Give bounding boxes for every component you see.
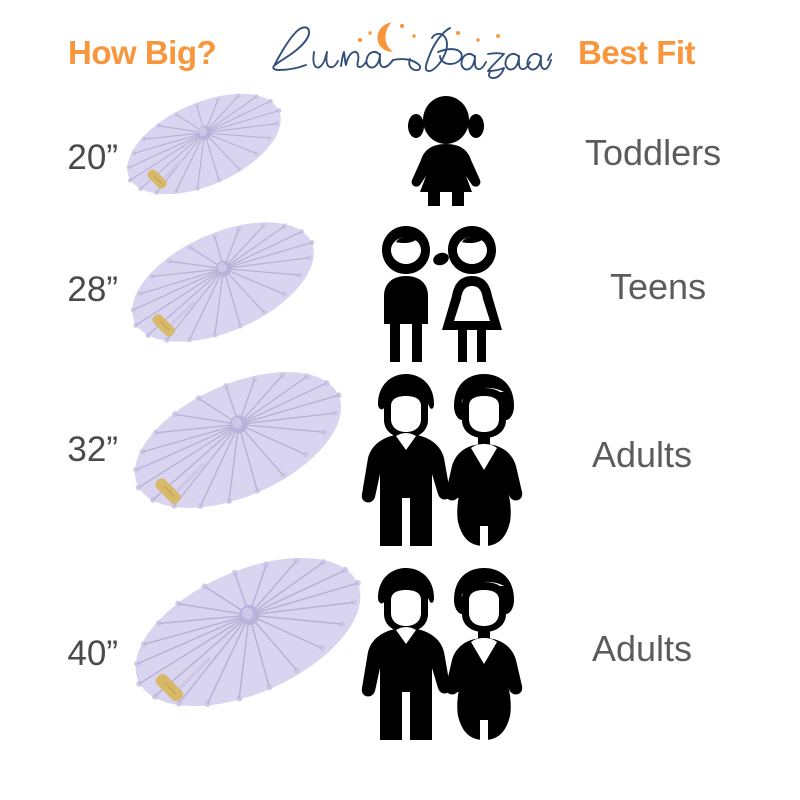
fit-label: Adults — [592, 434, 692, 476]
parasol-icon — [110, 368, 360, 540]
header-best-fit: Best Fit — [578, 34, 695, 72]
fit-label: Adults — [592, 628, 692, 670]
adult-couple-icon — [358, 564, 532, 744]
crescent-moon-icon — [377, 23, 393, 52]
size-label: 20” — [8, 138, 118, 178]
header-how-big: How Big? — [68, 34, 216, 72]
size-label: 40” — [8, 634, 118, 674]
size-label: 28” — [8, 270, 118, 310]
adult-couple-icon — [358, 370, 532, 550]
chart-header: How Big? — [0, 0, 800, 92]
table-row: 40” — [0, 556, 800, 756]
luna-bazaar-logo — [262, 14, 552, 80]
table-row: 32” — [0, 368, 800, 554]
table-row: 28” — [0, 218, 800, 368]
fit-label: Toddlers — [585, 132, 721, 174]
fit-label: Teens — [610, 266, 706, 308]
parasol-icon — [108, 218, 330, 368]
table-row: 20” — [0, 90, 800, 215]
parasol-size-chart: How Big? — [0, 0, 800, 800]
teen-boy-and-girl-icon — [372, 220, 520, 366]
size-label: 32” — [8, 430, 118, 470]
toddler-girl-icon — [398, 96, 494, 206]
parasol-icon — [110, 552, 378, 742]
parasol-icon — [108, 90, 294, 218]
